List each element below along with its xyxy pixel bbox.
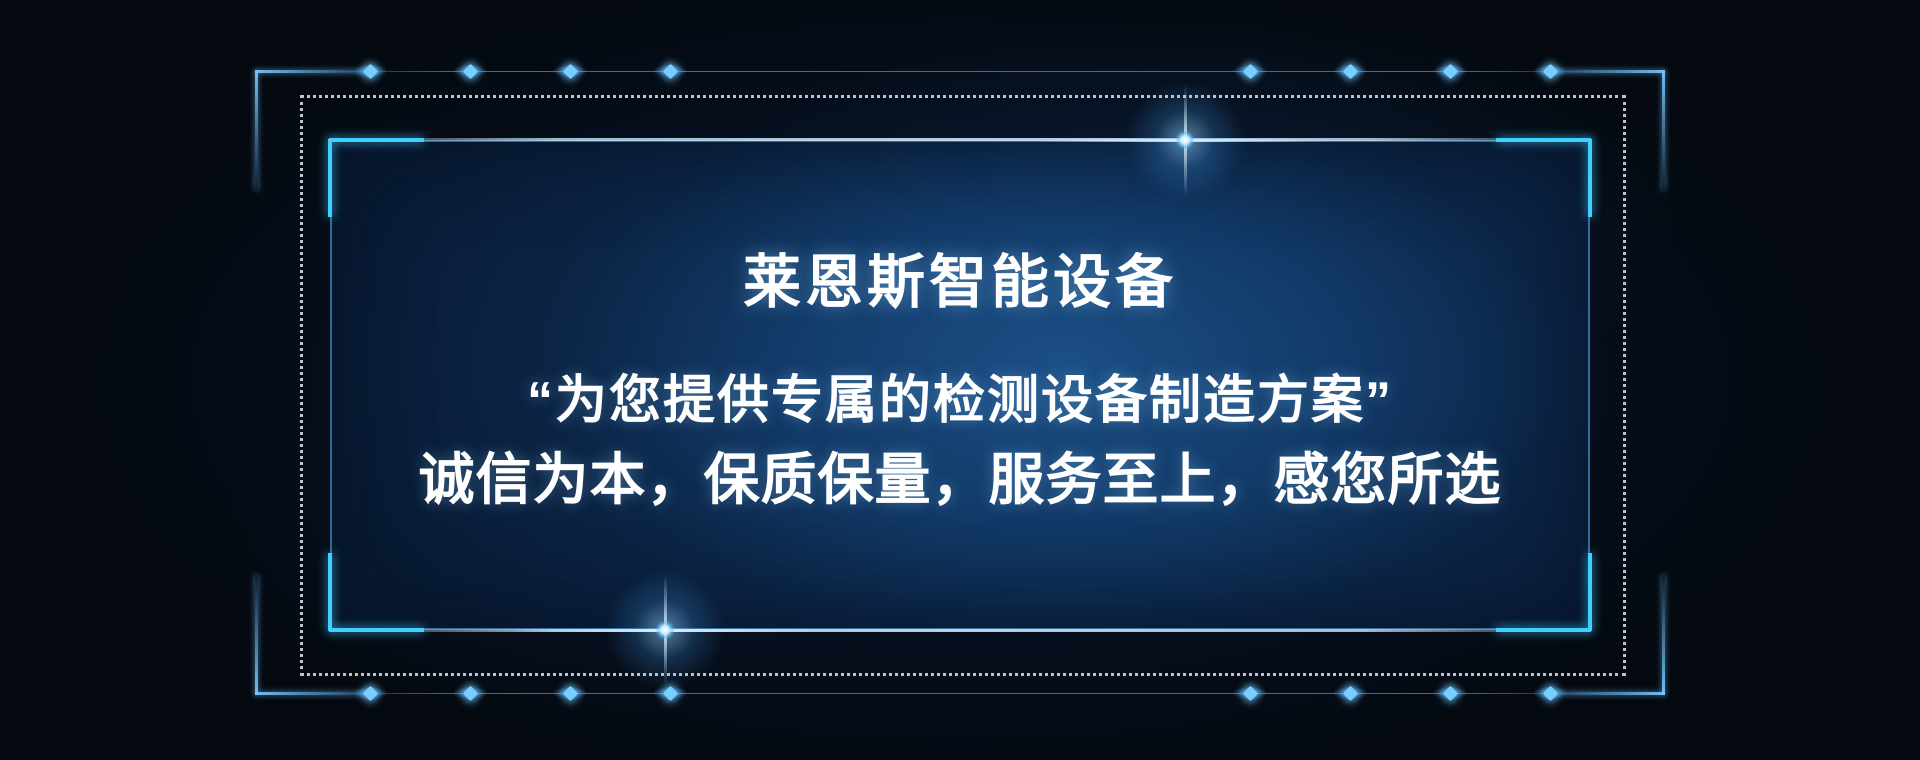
bottom-node-diamond-icon (353, 687, 387, 699)
top-rail (300, 71, 1620, 72)
bottom-node-diamond-icon (1233, 687, 1267, 699)
bottom-node-diamond-icon (1333, 687, 1367, 699)
bottom-node-diamond-icon (1533, 687, 1567, 699)
bottom-node-diamond-icon (653, 687, 687, 699)
banner-canvas: 莱恩斯智能设备 “为您提供专属的检测设备制造方案” 诚信为本，保质保量，服务至上… (0, 0, 1920, 760)
top-node-diamond-icon (453, 65, 487, 77)
top-node-diamond-core (462, 63, 478, 79)
banner-text-block: 莱恩斯智能设备 “为您提供专属的检测设备制造方案” 诚信为本，保质保量，服务至上… (330, 140, 1590, 630)
top-node-diamond-icon (1433, 65, 1467, 77)
top-node-diamond-icon (653, 65, 687, 77)
page-title: 莱恩斯智能设备 (743, 254, 1177, 312)
bottom-node-diamond-core (362, 685, 378, 701)
top-node-diamond-core (1242, 63, 1258, 79)
top-node-diamond-icon (1533, 65, 1567, 77)
top-node-diamond-core (362, 63, 378, 79)
top-node-diamond-core (1442, 63, 1458, 79)
bottom-node-diamond-core (1442, 685, 1458, 701)
bottom-node-diamond-core (1342, 685, 1358, 701)
top-node-diamond-icon (553, 65, 587, 77)
top-node-diamond-core (1342, 63, 1358, 79)
subtitle-quote: “为您提供专属的检测设备制造方案” (527, 368, 1393, 435)
bottom-node-diamond-core (662, 685, 678, 701)
top-node-diamond-icon (1333, 65, 1367, 77)
bottom-node-diamond-core (1242, 685, 1258, 701)
bottom-rail (300, 693, 1620, 694)
bottom-node-diamond-icon (1433, 687, 1467, 699)
top-node-diamond-core (662, 63, 678, 79)
bottom-node-diamond-icon (553, 687, 587, 699)
bottom-node-diamond-core (1542, 685, 1558, 701)
top-node-diamond-icon (353, 65, 387, 77)
bottom-node-diamond-core (462, 685, 478, 701)
bottom-node-diamond-icon (453, 687, 487, 699)
top-node-diamond-core (1542, 63, 1558, 79)
top-node-diamond-core (562, 63, 578, 79)
top-node-diamond-icon (1233, 65, 1267, 77)
bottom-node-diamond-core (562, 685, 578, 701)
subtitle-slogan: 诚信为本，保质保量，服务至上，感您所选 (419, 444, 1502, 516)
